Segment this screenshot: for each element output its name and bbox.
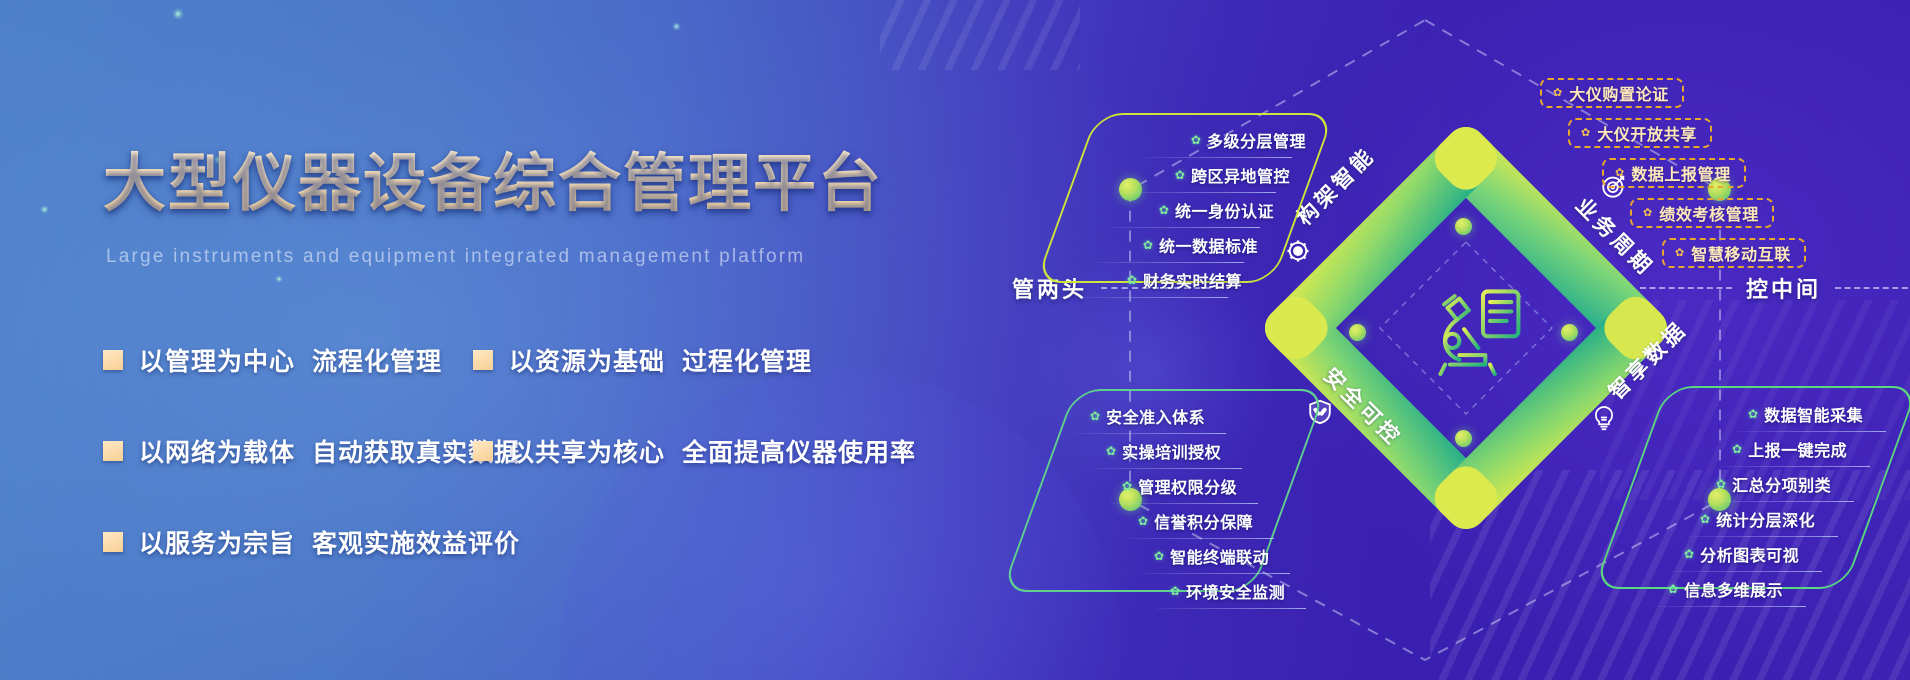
star-bullet-icon: ✿ (1668, 583, 1678, 595)
list-rule (1124, 538, 1274, 539)
feature-item: 以资源为基础 过程化管理 (473, 337, 916, 383)
list-item: ✿ 多级分层管理 (1072, 126, 1312, 153)
list-item-label: 分析图表可视 (1700, 542, 1799, 566)
star-bullet-icon: ✿ (1127, 274, 1137, 286)
badge-item[interactable]: ✿ 绩效考核管理 (1630, 198, 1774, 228)
inner-node-dot (1455, 218, 1472, 235)
feature-lead: 以网络为载体 (139, 433, 295, 469)
star-bullet-icon: ✿ (1700, 513, 1710, 525)
list-item-label: 智能终端联动 (1170, 544, 1269, 568)
badge-label: 大仪开放共享 (1597, 121, 1697, 145)
list-item: ✿ 实操培训授权 (1044, 437, 1302, 464)
list-item-label: 汇总分项别类 (1732, 472, 1831, 496)
list-item: ✿ 数据智能采集 (1636, 400, 1894, 427)
list-rule (1140, 573, 1290, 574)
feature-column-1: 以管理为中心 流程化管理 以网络为载体 自动获取真实数据 以服务为宗旨 客观实施… (103, 337, 520, 610)
star-bullet-icon: ✿ (1106, 445, 1116, 457)
list-item-label: 实操培训授权 (1122, 439, 1221, 463)
panel-top-left-items: ✿ 多级分层管理 ✿ 跨区异地管控 ✿ 统一身份认证 ✿ 统一数据标准 ✿ 财务… (1072, 126, 1312, 301)
list-item-label: 信息多维展示 (1684, 577, 1783, 601)
list-item-label: 管理权限分级 (1138, 474, 1237, 498)
list-item-label: 信誉积分保障 (1154, 509, 1253, 533)
inner-node-dot (1349, 324, 1366, 341)
star-bullet-icon: ✿ (1191, 134, 1201, 146)
panel-bottom-left-items: ✿ 安全准入体系 ✿ 实操培训授权 ✿ 管理权限分级 ✿ 信誉积分保障 ✿ 智能… (1044, 402, 1302, 612)
list-rule (1094, 262, 1244, 263)
feature-lead: 以管理为中心 (139, 342, 295, 378)
list-rule (1076, 433, 1226, 434)
feature-detail: 全面提高仪器使用率 (682, 433, 916, 469)
list-rule (1078, 297, 1228, 298)
star-bullet-icon: ✿ (1154, 550, 1164, 562)
badge-label: 智慧移动互联 (1691, 241, 1791, 265)
badge-item[interactable]: ✿ 大仪购置论证 (1540, 78, 1684, 108)
badge-label: 数据上报管理 (1631, 161, 1731, 185)
list-item: ✿ 智能终端联动 (1044, 542, 1302, 569)
list-rule (1720, 466, 1870, 467)
page-subtitle: Large instruments and equipment integrat… (106, 246, 805, 268)
list-rule (1656, 606, 1806, 607)
list-item: ✿ 分析图表可视 (1636, 540, 1894, 567)
feature-detail: 客观实施效益评价 (312, 524, 520, 560)
square-bullet-icon (103, 441, 123, 461)
star-bullet-icon: ✿ (1732, 443, 1742, 455)
square-bullet-icon (473, 441, 493, 461)
star-bullet-icon: ✿ (1748, 408, 1758, 420)
star-bullet-icon: ✿ (1175, 169, 1185, 181)
feature-item: 以管理为中心 流程化管理 (103, 337, 520, 383)
list-item: ✿ 统一身份认证 (1072, 196, 1312, 223)
feature-column-2: 以资源为基础 过程化管理 以共享为核心 全面提高仪器使用率 (473, 337, 916, 519)
list-item: ✿ 环境安全监测 (1044, 577, 1302, 604)
page-title: 大型仪器设备综合管理平台 (103, 133, 883, 224)
list-item: ✿ 统一数据标准 (1072, 231, 1312, 258)
list-item-label: 统一身份认证 (1175, 198, 1274, 222)
feature-lead: 以资源为基础 (509, 342, 665, 378)
badge-group-top-right: ✿ 大仪购置论证 ✿ 大仪开放共享 ✿ 数据上报管理 ✿ 绩效考核管理 ✿ 智慧… (1540, 78, 1910, 278)
star-bullet-icon: ✿ (1143, 239, 1153, 251)
feature-item: 以服务为宗旨 客观实施效益评价 (103, 519, 520, 565)
badge-label: 大仪购置论证 (1569, 81, 1669, 105)
star-bullet-icon: ✿ (1615, 168, 1624, 179)
star-bullet-icon: ✿ (1684, 548, 1694, 560)
star-bullet-icon: ✿ (1643, 208, 1652, 219)
list-item-label: 数据智能采集 (1764, 402, 1863, 426)
star-bullet-icon: ✿ (1170, 585, 1180, 597)
list-item-label: 上报一键完成 (1748, 437, 1847, 461)
star-bullet-icon: ✿ (1138, 515, 1148, 527)
hero-text-panel: 大型仪器设备综合管理平台 Large instruments and equip… (0, 0, 1000, 680)
list-rule (1126, 192, 1276, 193)
feature-detail: 流程化管理 (312, 342, 442, 378)
list-rule (1672, 571, 1822, 572)
feature-detail: 过程化管理 (682, 342, 812, 378)
inner-node-dot (1561, 324, 1578, 341)
list-item: ✿ 信誉积分保障 (1044, 507, 1302, 534)
list-rule (1110, 227, 1260, 228)
square-bullet-icon (103, 532, 123, 552)
list-item: ✿ 汇总分项别类 (1636, 470, 1894, 497)
list-rule (1704, 501, 1854, 502)
inner-node-dot (1455, 430, 1472, 447)
badge-item[interactable]: ✿ 大仪开放共享 (1568, 118, 1712, 148)
feature-item: 以网络为载体 自动获取真实数据 (103, 428, 520, 474)
feature-lead: 以共享为核心 (509, 433, 665, 469)
list-item-label: 环境安全监测 (1186, 579, 1285, 603)
list-rule (1736, 431, 1886, 432)
star-bullet-icon: ✿ (1675, 248, 1684, 259)
list-item-label: 跨区异地管控 (1191, 163, 1290, 187)
feature-item: 以共享为核心 全面提高仪器使用率 (473, 428, 916, 474)
list-item: ✿ 统计分层深化 (1636, 505, 1894, 532)
list-rule (1688, 536, 1838, 537)
list-item-label: 统一数据标准 (1159, 233, 1258, 257)
list-item-label: 财务实时结算 (1143, 268, 1242, 292)
star-bullet-icon: ✿ (1090, 410, 1100, 422)
list-item: ✿ 管理权限分级 (1044, 472, 1302, 499)
star-bullet-icon: ✿ (1716, 478, 1726, 490)
list-rule (1092, 468, 1242, 469)
list-rule (1108, 503, 1258, 504)
star-bullet-icon: ✿ (1122, 480, 1132, 492)
badge-label: 绩效考核管理 (1659, 201, 1759, 225)
list-item: ✿ 安全准入体系 (1044, 402, 1302, 429)
list-rule (1156, 608, 1306, 609)
feature-lead: 以服务为宗旨 (139, 524, 295, 560)
star-bullet-icon: ✿ (1581, 128, 1590, 139)
list-item: ✿ 上报一键完成 (1636, 435, 1894, 462)
list-item: ✿ 信息多维展示 (1636, 575, 1894, 602)
infographic-diagram: 管两头 控中间 (1020, 0, 1910, 680)
list-item-label: 多级分层管理 (1207, 128, 1306, 152)
list-rule (1142, 157, 1292, 158)
list-item: ✿ 财务实时结算 (1072, 266, 1312, 293)
list-item-label: 统计分层深化 (1716, 507, 1815, 531)
star-bullet-icon: ✿ (1553, 88, 1562, 99)
star-bullet-icon: ✿ (1159, 204, 1169, 216)
badge-item[interactable]: ✿ 数据上报管理 (1602, 158, 1746, 188)
list-item-label: 安全准入体系 (1106, 404, 1205, 428)
list-item: ✿ 跨区异地管控 (1072, 161, 1312, 188)
lightbulb-icon (1590, 404, 1618, 432)
square-bullet-icon (473, 350, 493, 370)
square-bullet-icon (103, 350, 123, 370)
panel-bottom-right-items: ✿ 数据智能采集 ✿ 上报一键完成 ✿ 汇总分项别类 ✿ 统计分层深化 ✿ 分析… (1636, 400, 1894, 610)
badge-item[interactable]: ✿ 智慧移动互联 (1662, 238, 1806, 268)
